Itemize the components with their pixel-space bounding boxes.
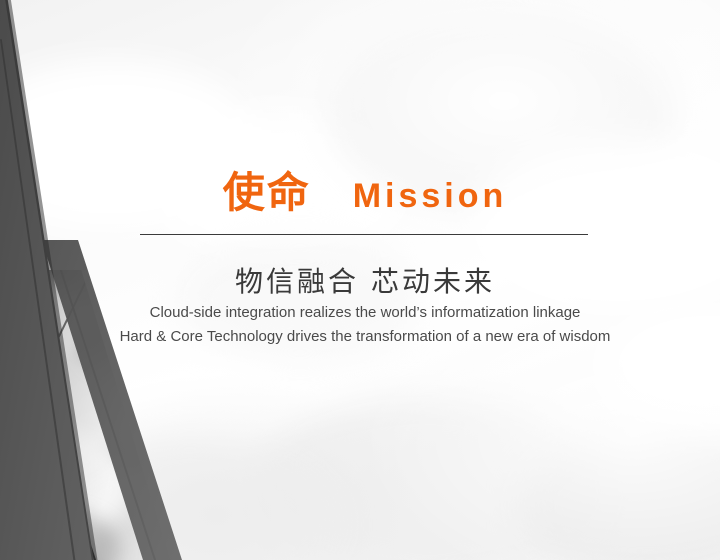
banner-content: 使命 Mission 物信融合 芯动未来 Cloud-side integrat… — [0, 0, 720, 560]
tagline-line-2: Hard & Core Technology drives the transf… — [90, 328, 640, 345]
subtitle-chinese: 物信融合 芯动未来 — [140, 260, 590, 300]
heading-english: Mission — [353, 179, 508, 213]
section-heading: 使命 Mission — [140, 172, 590, 214]
heading-divider — [140, 234, 588, 235]
mission-banner: 使命 Mission 物信融合 芯动未来 Cloud-side integrat… — [0, 0, 720, 560]
tagline-line-1: Cloud-side integration realizes the worl… — [90, 304, 640, 321]
heading-chinese: 使命 — [223, 172, 311, 214]
